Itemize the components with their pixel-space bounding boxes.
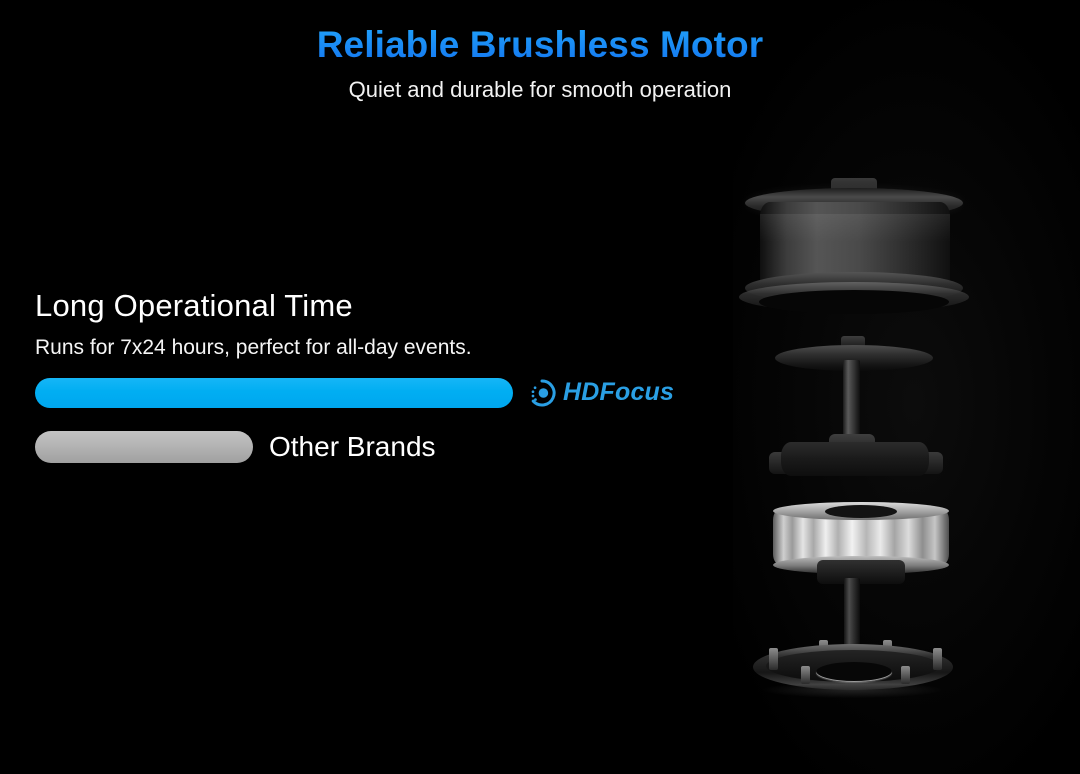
motor-bell-cavity: [759, 290, 949, 314]
other-progress-bar[interactable]: [35, 431, 253, 463]
motor-stator-bore: [825, 505, 897, 518]
motor-base-bore: [816, 662, 892, 682]
brushless-motor-image: [733, 0, 1080, 774]
product-image-panel: [733, 0, 1080, 774]
page-subtitle: Quiet and durable for smooth operation: [0, 63, 1080, 101]
motor-base-shadow: [763, 682, 943, 698]
motor-base-rib: [901, 666, 910, 684]
other-brands-label: Other Brands: [269, 433, 436, 461]
motor-rotor-cap: [781, 442, 929, 476]
feature-description: Runs for 7x24 hours, perfect for all-day…: [35, 324, 695, 360]
feature-content: Long Operational Time Runs for 7x24 hour…: [35, 288, 695, 463]
brand-progress-bar[interactable]: [35, 378, 513, 408]
comparison-row-other: Other Brands: [35, 431, 695, 463]
hdfocus-aperture-icon: [527, 378, 557, 408]
motor-rotor-base: [817, 560, 905, 584]
brand-name-label: HDFocus: [563, 380, 674, 405]
motor-bell-highlight: [760, 214, 950, 242]
slide-header: Reliable Brushless Motor Quiet and durab…: [0, 0, 1080, 101]
motor-base-rib: [801, 666, 810, 684]
page-title: Reliable Brushless Motor: [0, 0, 1080, 63]
slide-root: Reliable Brushless Motor Quiet and durab…: [0, 0, 1080, 774]
comparison-row-brand: HDFocus: [35, 378, 695, 408]
motor-base-rib: [769, 648, 778, 670]
brand-logo: HDFocus: [527, 378, 674, 408]
motor-base-rib: [933, 648, 942, 670]
feature-title: Long Operational Time: [35, 288, 695, 324]
motor-shaft-lower: [844, 578, 860, 650]
